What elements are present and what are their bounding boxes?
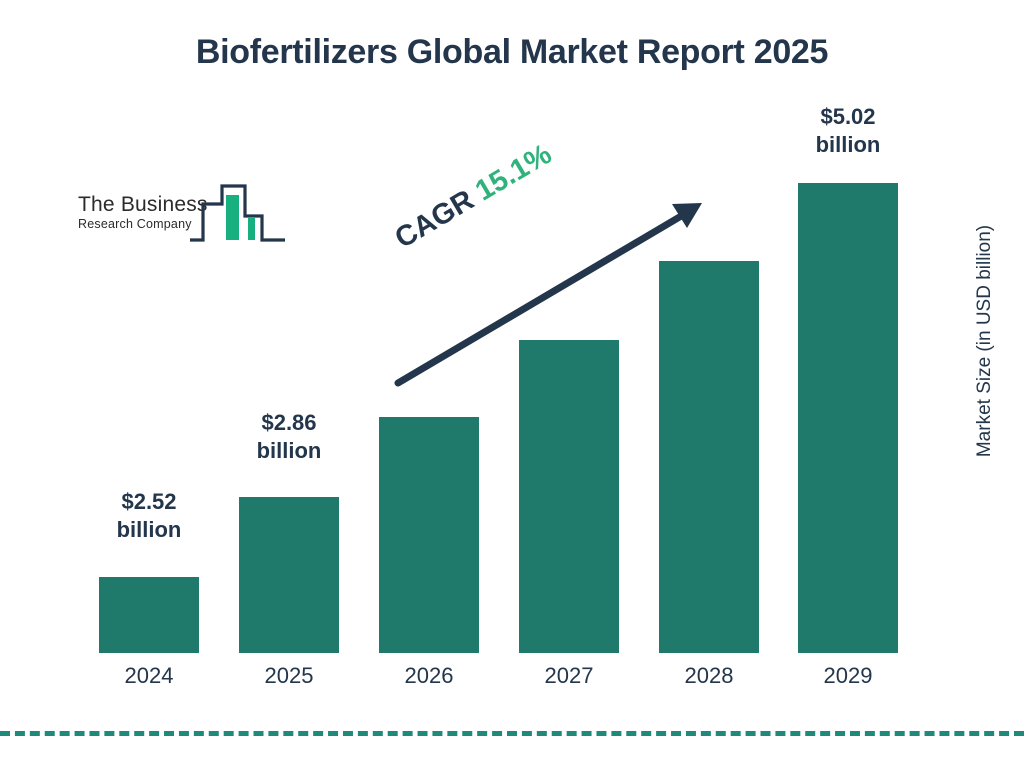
- bar-value-2029-line2: billion: [783, 131, 913, 159]
- bar-2024: [99, 577, 199, 653]
- bar-chart-plot-area: $2.52 billion $2.86 billion $5.02 billio…: [0, 0, 1024, 768]
- y-axis-label: Market Size (in USD billion): [974, 181, 996, 501]
- x-tick-2028: 2028: [644, 663, 774, 689]
- x-tick-2029: 2029: [783, 663, 913, 689]
- cagr-annotation: CAGR15.1%: [390, 138, 558, 256]
- bar-value-2024: $2.52 billion: [84, 488, 214, 544]
- bar-2028: [659, 261, 759, 653]
- x-tick-2024: 2024: [84, 663, 214, 689]
- chart-page: Biofertilizers Global Market Report 2025…: [0, 0, 1024, 768]
- cagr-label: CAGR: [390, 184, 480, 255]
- bar-value-2025: $2.86 billion: [224, 409, 354, 465]
- bar-value-2024-line1: $2.52: [84, 488, 214, 516]
- bar-2027: [519, 340, 619, 653]
- x-tick-2025: 2025: [224, 663, 354, 689]
- bar-value-2025-line1: $2.86: [224, 409, 354, 437]
- x-tick-2027: 2027: [504, 663, 634, 689]
- bar-value-2024-line2: billion: [84, 516, 214, 544]
- bar-2029: [798, 183, 898, 653]
- bar-2026: [379, 417, 479, 653]
- x-tick-2026: 2026: [364, 663, 494, 689]
- bar-2025: [239, 497, 339, 653]
- footer-divider: [0, 731, 1024, 736]
- bar-value-2029-line1: $5.02: [783, 103, 913, 131]
- cagr-value: 15.1%: [470, 138, 557, 207]
- bar-value-2025-line2: billion: [224, 437, 354, 465]
- bar-value-2029: $5.02 billion: [783, 103, 913, 159]
